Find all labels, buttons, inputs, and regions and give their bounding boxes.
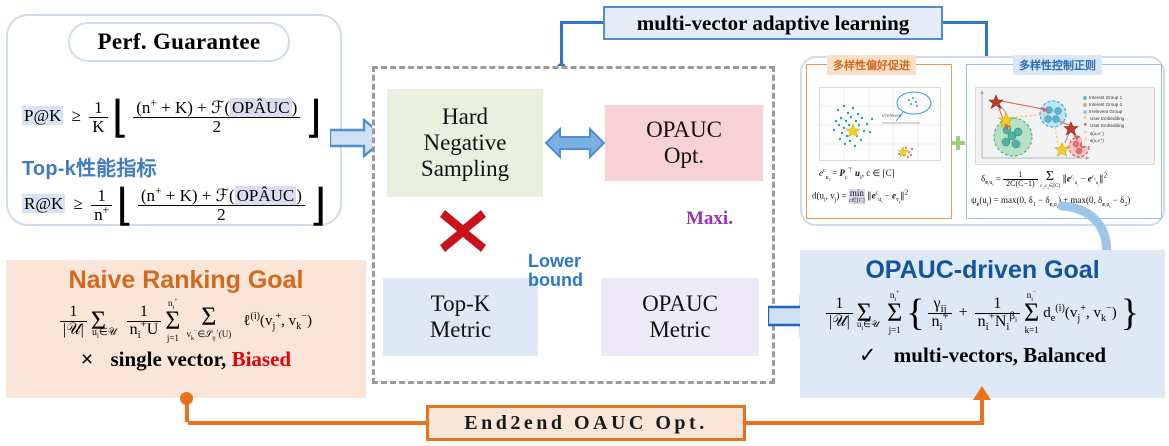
scatter-plot-diversity: irrelevent — [819, 87, 941, 161]
irrelevant-callout-label: irrelevent — [882, 114, 901, 119]
legend-item: ↗ s(u,v⁻) — [1083, 130, 1151, 137]
legend-label: Irrelevent Group — [1089, 108, 1122, 115]
top-banner-label: multi-vector adaptive learning — [637, 11, 910, 36]
opauc-driven-goal-footer: ✓ multi-vectors, Balanced — [800, 343, 1165, 368]
red-x-icon — [438, 205, 488, 255]
bound-rk-inner: (n+ + K) + ℱ(OPÂUC) 2 — [138, 187, 305, 224]
goal-brace-close: } — [1121, 292, 1139, 334]
figure-canvas: multi-vector adaptive learning Perf. Gua… — [0, 0, 1169, 446]
bound-pk-inner: (n+ + K) + ℱ(OPÂUC) 2 — [133, 99, 300, 136]
legend-item: Irrelevent Group — [1083, 108, 1151, 115]
top-banner-left-drop — [560, 21, 563, 67]
goal-sigma-1-sub: ui∈𝒰 — [857, 319, 879, 329]
legend-label: User Embedding — [1090, 122, 1124, 129]
legend-arrow-icon: ↗ — [1083, 138, 1088, 143]
legend-star-icon: ★ — [1083, 123, 1088, 128]
legend-star-icon: ★ — [1083, 116, 1088, 121]
bottom-right-arrowhead — [972, 386, 992, 402]
box-hard-negative-sampling-label: Hard Negative Sampling — [421, 104, 509, 181]
naive-frac-2: 1ni+U — [127, 304, 162, 339]
subfigure-diversity-regularization: 多样性控制正则 — [966, 64, 1162, 219]
bound-rk-inner-den: 2 — [138, 206, 305, 224]
box-opauc-metric-label: OPAUC Metric — [642, 291, 718, 343]
label-lower-bound: Lower bound — [528, 252, 608, 290]
subfigure-diversity-preference: 多样性偏好促进 — [806, 64, 952, 219]
perf-guarantee-title-text: Perf. Guarantee — [98, 29, 261, 55]
bound-rk-coef-den: n+ — [91, 206, 112, 224]
bound-rk-coefficient: 1 n+ — [91, 187, 112, 224]
naive-loss-term: ℓ(i)(vj+, vk−) — [243, 313, 312, 329]
goal-distance-term: de(i)(vj+, vk−) — [1043, 305, 1117, 321]
bound-pk-inner-den: 2 — [133, 118, 300, 136]
bottom-banner-right-connector — [744, 421, 984, 425]
box-hard-negative-sampling: Hard Negative Sampling — [387, 89, 543, 197]
bound-rk-lhs: R@K — [22, 194, 65, 213]
bound-pk-coef-num: 1 — [89, 99, 107, 118]
perf-guarantee-card: Perf. Guarantee P@K ≥ 1 K ⌊ (n+ + K) + ℱ… — [6, 14, 342, 226]
legend-dot-icon — [1083, 103, 1087, 107]
bidirectional-arrow-icon — [544, 122, 606, 164]
legend-arrow-icon: ↗ — [1083, 131, 1088, 136]
legend-dot-icon — [1083, 110, 1087, 114]
goal-frac-gamma: γijni+ — [928, 296, 951, 331]
legend-item: ★ User Embedding — [1083, 115, 1151, 122]
bound-rk-inner-num: (n+ + K) + ℱ(OPÂUC) — [138, 187, 305, 206]
bottom-left-endpoint — [180, 392, 193, 405]
box-topk-metric: Top-K Metric — [383, 278, 538, 356]
goal-frac-n: 1ni+Niβi — [975, 296, 1020, 331]
legend-dot-icon — [1083, 96, 1087, 100]
check-mark-icon: ✓ — [859, 344, 877, 367]
naive-sigma-1-sub: ui∈𝒰 — [92, 327, 117, 338]
bound-pk-relation: ≥ — [72, 106, 81, 125]
goal-frac-1: 1|𝒰| — [826, 296, 853, 331]
subfigure-right-formula-1: δe,ui = 12C(C−1) Σ c1,c2∈[C] ∥ec1ui − ec… — [981, 170, 1107, 189]
plus-icon — [949, 135, 967, 153]
subfigure-right-tag: 多样性控制正则 — [1013, 55, 1102, 75]
goal-foot-text: multi-vectors, Balanced — [894, 343, 1106, 367]
bound-pk-lhs: P@K — [22, 106, 63, 125]
top-banner-right-drop — [985, 21, 988, 56]
naive-ranking-goal-formula: 1|𝒰| Σui∈𝒰 1ni+U ni+ Σ j=1 Σ vk−∈𝒮ij↑(U)… — [6, 299, 366, 343]
bound-precision-at-k: P@K ≥ 1 K ⌊ (n+ + K) + ℱ(OPÂUC) 2 ⌋ — [22, 92, 322, 143]
naive-ranking-goal-footer: × single vector, Biased — [6, 347, 366, 372]
bound-pk-coef-den: K — [89, 118, 107, 136]
naive-ranking-goal-title: Naive Ranking Goal — [6, 266, 366, 295]
legend-item: ★ User Embedding — [1083, 122, 1151, 129]
floor-bracket-open: ⌊ — [112, 92, 129, 143]
subfigure-left-formula-2: d(ui, vj) = minc∈[C] ∥ecui − evj∥2 — [812, 189, 908, 204]
subfigure-left-formula-1: ecui = Pc⊤ ui, c ∈ [C] — [819, 168, 895, 180]
goal-plus: + — [959, 304, 968, 321]
legend-label: Interest Group 1 — [1089, 94, 1122, 101]
subfigure-left-tag: 多样性偏好促进 — [827, 55, 916, 75]
legend-label: User Embedding — [1090, 115, 1124, 122]
top-banner-right-connector — [940, 21, 988, 24]
box-opauc-opt: OPAUC Opt. — [605, 105, 763, 181]
naive-sigma-3: Σ vk−∈𝒮ij↑(U) — [186, 304, 231, 339]
label-maxi: Maxi. — [686, 208, 733, 230]
naive-ranking-goal-box: Naive Ranking Goal 1|𝒰| Σui∈𝒰 1ni+U ni+ … — [6, 260, 366, 398]
bound-recall-at-k: R@K ≥ 1 n+ ⌊ (n+ + K) + ℱ(OPÂUC) 2 ⌋ — [22, 180, 326, 231]
goal-sigma-3: ni− Σ k=1 — [1024, 291, 1039, 335]
naive-frac-1: 1|𝒰| — [60, 304, 87, 339]
cluster-legend: Interest Group 1 Interest Group 2 Irrele… — [1082, 92, 1152, 146]
bound-pk-coefficient: 1 K — [89, 99, 107, 136]
top-banner-left-connector — [560, 21, 606, 24]
naive-foot-biased: Biased — [232, 347, 292, 371]
floor-bracket-close: ⌋ — [305, 92, 322, 143]
legend-label: s(u,v⁺) — [1090, 137, 1104, 144]
legend-item: Interest Group 2 — [1083, 101, 1151, 108]
legend-label: s(u,v⁻) — [1090, 130, 1104, 137]
goal-sigma-2: ni+ Σ j=1 — [887, 291, 902, 335]
floor-bracket-close-2: ⌋ — [309, 180, 326, 231]
bottom-banner-label: End2end OAUC Opt. — [464, 412, 707, 435]
top-banner: multi-vector adaptive learning — [603, 6, 943, 40]
naive-sigma-2: ni+ Σ j=1 — [165, 299, 180, 343]
opauc-driven-goal-title: OPAUC-driven Goal — [800, 256, 1165, 285]
bound-pk-inner-num: (n+ + K) + ℱ(OPÂUC) — [133, 99, 300, 118]
perf-guarantee-title: Perf. Guarantee — [68, 22, 290, 62]
opauc-driven-goal-formula: 1|𝒰| Σui∈𝒰 ni+ Σ j=1 { γijni+ + 1ni+Niβi… — [800, 291, 1165, 335]
bottom-banner: End2end OAUC Opt. — [426, 405, 746, 441]
cluster-diagram: Interest Group 1 Interest Group 2 Irrele… — [975, 87, 1155, 165]
goal-brace-open: { — [906, 292, 924, 334]
naive-foot-plain: single vector, — [110, 347, 226, 371]
bottom-banner-left-connector — [188, 421, 428, 425]
topk-metric-cn-label: Top-k性能指标 — [22, 152, 157, 181]
legend-item: Interest Group 1 — [1083, 94, 1151, 101]
floor-bracket-open-2: ⌊ — [116, 180, 133, 231]
legend-label: Interest Group 2 — [1089, 101, 1122, 108]
bound-rk-relation: ≥ — [74, 194, 83, 213]
opauc-driven-goal-box: OPAUC-driven Goal 1|𝒰| Σui∈𝒰 ni+ Σ j=1 {… — [800, 250, 1165, 398]
cross-mark-icon: × — [81, 348, 93, 371]
box-opauc-metric: OPAUC Metric — [601, 278, 759, 356]
legend-item: ↗ s(u,v⁺) — [1083, 137, 1151, 144]
box-opauc-opt-label: OPAUC Opt. — [646, 117, 722, 169]
box-topk-metric-label: Top-K Metric — [430, 291, 491, 343]
scatter-plot-svg — [820, 88, 942, 162]
